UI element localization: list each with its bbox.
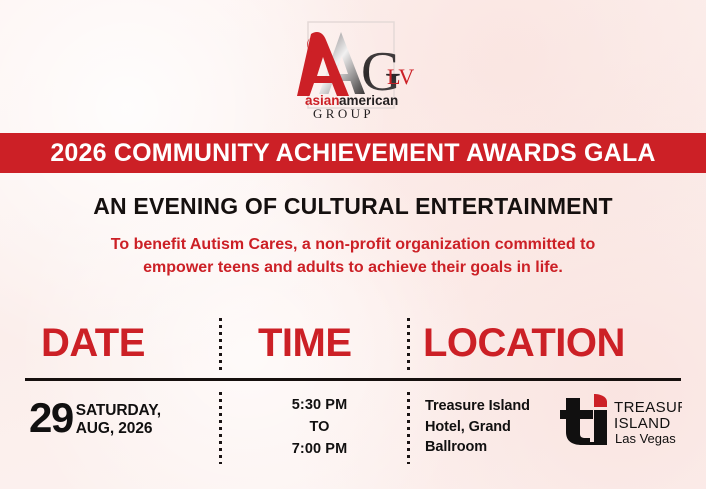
date-weekday-month: SATURDAY, AUG, 2026 bbox=[76, 402, 161, 439]
time-header: TIME bbox=[258, 312, 352, 374]
treasure-island-logo: TREASURE ISLAND Las Vegas bbox=[560, 392, 682, 450]
organization-logo: G LV asian american GROUP bbox=[0, 16, 706, 128]
event-details: DATE TIME LOCATION 29 SATURDAY, AUG, 202… bbox=[25, 312, 681, 462]
date-header: DATE bbox=[41, 312, 145, 374]
svg-text:TREASURE: TREASURE bbox=[614, 399, 682, 416]
detail-headers: DATE TIME LOCATION bbox=[25, 312, 681, 374]
svg-text:Las Vegas: Las Vegas bbox=[615, 431, 676, 446]
title-banner: 2026 COMMUNITY ACHIEVEMENT AWARDS GALA bbox=[0, 133, 706, 173]
time-value: 5:30 PM TO 7:00 PM bbox=[232, 394, 407, 460]
time-end: 7:00 PM bbox=[232, 438, 407, 460]
svg-text:ISLAND: ISLAND bbox=[614, 415, 671, 432]
location-line-2: Hotel, Grand bbox=[425, 417, 530, 438]
logo-graphic: G LV asian american GROUP bbox=[277, 16, 429, 122]
benefit-line-1: To benefit Autism Cares, a non-profit or… bbox=[52, 234, 654, 257]
date-value: 29 SATURDAY, AUG, 2026 bbox=[29, 400, 161, 439]
banner-title: 2026 COMMUNITY ACHIEVEMENT AWARDS GALA bbox=[50, 141, 655, 166]
location-header: LOCATION bbox=[423, 312, 625, 374]
date-weekday: SATURDAY, bbox=[76, 402, 161, 420]
benefit-line-2: empower teens and adults to achieve thei… bbox=[52, 257, 654, 280]
detail-bodies: 29 SATURDAY, AUG, 2026 5:30 PM TO 7:00 P… bbox=[25, 386, 681, 462]
divider-time-location-top bbox=[407, 318, 410, 374]
location-value: Treasure Island Hotel, Grand Ballroom bbox=[425, 396, 530, 458]
benefit-statement: To benefit Autism Cares, a non-profit or… bbox=[52, 234, 654, 279]
svg-text:LV: LV bbox=[387, 64, 414, 89]
horizontal-divider bbox=[25, 378, 681, 381]
svg-text:GROUP: GROUP bbox=[313, 106, 374, 121]
time-start: 5:30 PM bbox=[232, 394, 407, 416]
divider-date-time-top bbox=[219, 318, 222, 374]
event-flyer: G LV asian american GROUP 2026 COMMUNITY… bbox=[0, 0, 706, 489]
date-month-year: AUG, 2026 bbox=[76, 420, 161, 438]
divider-time-location-bottom bbox=[407, 392, 410, 464]
location-line-1: Treasure Island bbox=[425, 396, 530, 417]
location-line-3: Ballroom bbox=[425, 437, 530, 458]
divider-date-time-bottom bbox=[219, 392, 222, 464]
date-day-number: 29 bbox=[29, 400, 73, 437]
time-separator: TO bbox=[232, 416, 407, 438]
headline-subtitle: AN EVENING OF CULTURAL ENTERTAINMENT bbox=[0, 193, 706, 220]
